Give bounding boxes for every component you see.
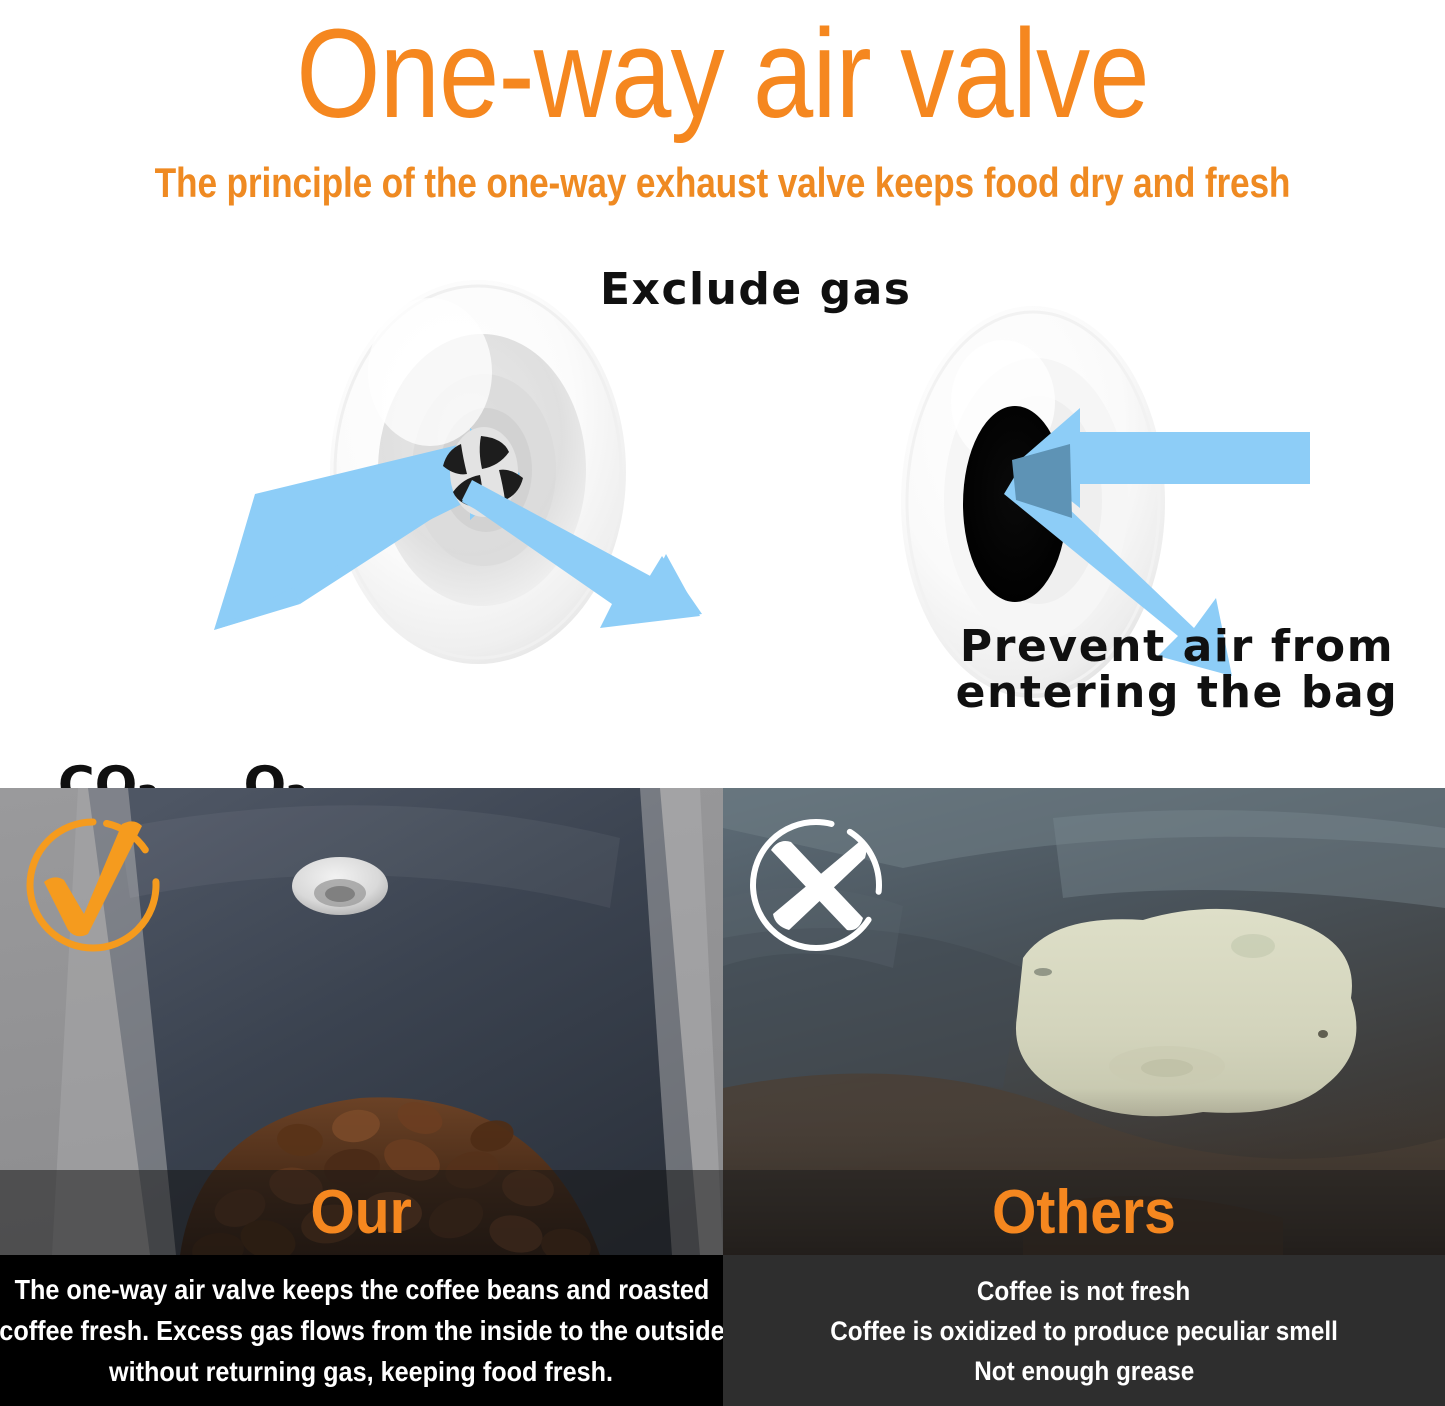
- check-mark-icon: [18, 810, 168, 960]
- caption-others: Coffee is not fresh Coffee is oxidized t…: [723, 1255, 1445, 1406]
- caption-line: The one-way air valve keeps the coffee b…: [14, 1269, 709, 1310]
- page-title: One-way air valve: [101, 4, 1344, 144]
- cross-mark-badge: [741, 810, 891, 960]
- infographic-page: One-way air valve The principle of the o…: [0, 0, 1445, 1406]
- grease-residue-blob: [1016, 909, 1356, 1116]
- caption-our: The one-way air valve keeps the coffee b…: [0, 1255, 723, 1406]
- label-exclude-gas: Exclude gas: [600, 264, 911, 315]
- label-prevent-air: Prevent air from entering the bag: [952, 624, 1402, 716]
- caption-line: without returning gas, keeping food fres…: [109, 1351, 613, 1392]
- comparison-panel-our: Our The one-way air valve keeps the coff…: [0, 788, 723, 1406]
- brand-band-our: Our: [0, 1170, 723, 1255]
- cross-mark-icon: [741, 810, 891, 960]
- bag-valve-icon: [292, 857, 388, 915]
- label-prevent-line2: entering the bag: [952, 670, 1402, 716]
- band-label-our: Our: [311, 1182, 412, 1244]
- header: One-way air valve The principle of the o…: [0, 0, 1445, 232]
- caption-line: Coffee is oxidized to produce peculiar s…: [830, 1311, 1338, 1351]
- valve-diagram-section: Exclude gas CO2、 O2 Prevent air from ent…: [0, 232, 1445, 788]
- check-mark-badge: [18, 810, 168, 960]
- comparison-section: Our The one-way air valve keeps the coff…: [0, 788, 1445, 1406]
- comparison-panel-others: Others Coffee is not fresh Coffee is oxi…: [723, 788, 1445, 1406]
- brand-band-others: Others: [723, 1170, 1445, 1255]
- caption-line: coffee fresh. Excess gas flows from the …: [0, 1310, 723, 1351]
- band-label-others: Others: [992, 1182, 1176, 1244]
- page-subtitle: The principle of the one-way exhaust val…: [116, 158, 1330, 208]
- caption-line: Not enough grease: [974, 1351, 1194, 1391]
- label-prevent-line1: Prevent air from: [952, 624, 1402, 670]
- caption-line: Coffee is not fresh: [977, 1271, 1190, 1311]
